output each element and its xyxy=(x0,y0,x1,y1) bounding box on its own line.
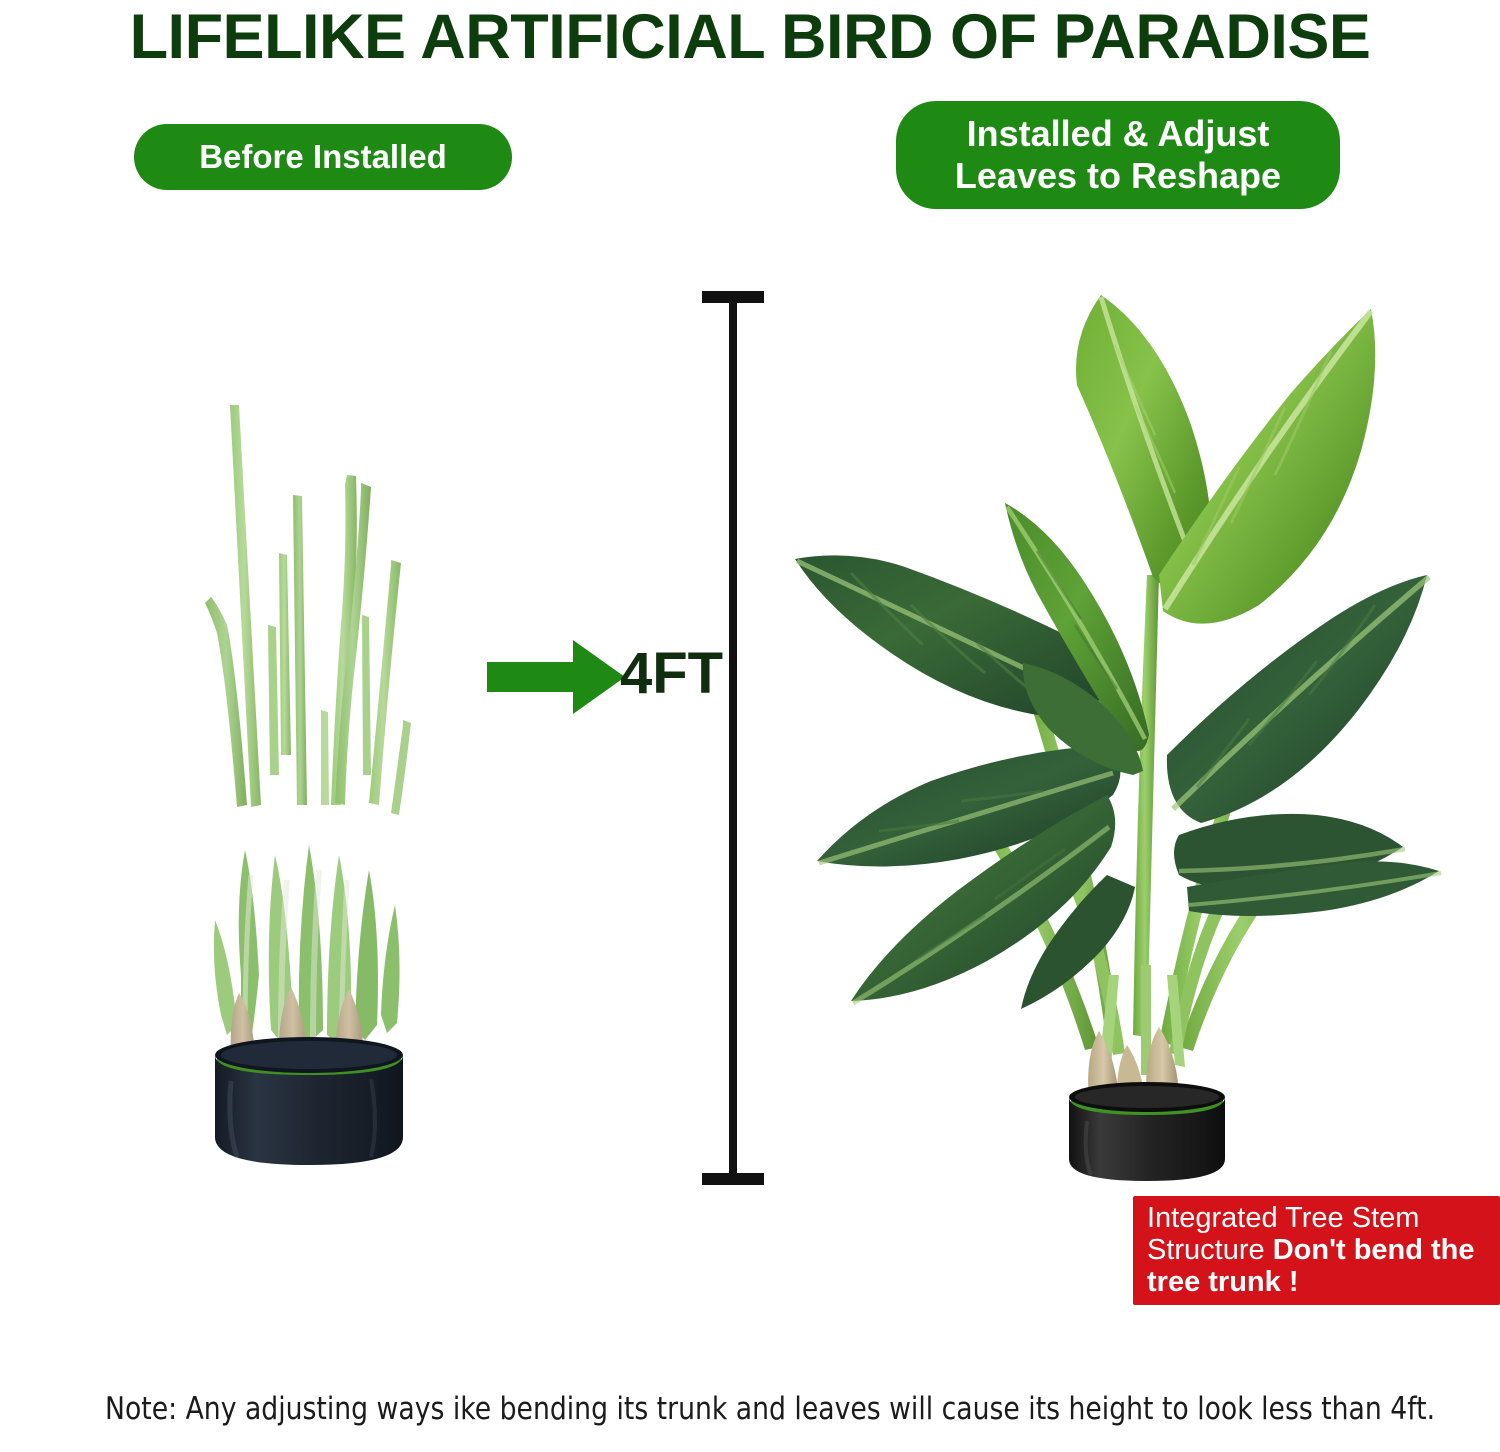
badge-installed-adjust: Installed & Adjust Leaves to Reshape xyxy=(896,101,1340,209)
product-image-before-installed xyxy=(175,375,445,1175)
badge-before-label: Before Installed xyxy=(199,139,447,175)
product-image-installed xyxy=(755,275,1465,1185)
footer-note: Note: Any adjusting ways ike bending its… xyxy=(105,1390,1395,1428)
page-title: LIFELIKE ARTIFICIAL BIRD OF PARADISE xyxy=(0,2,1500,72)
plant-pot xyxy=(1069,1082,1225,1181)
right-arrow-icon xyxy=(487,638,627,716)
badge-after-label-line1: Installed & Adjust xyxy=(967,113,1270,155)
badge-before-installed: Before Installed xyxy=(134,124,512,190)
measurement-line xyxy=(729,293,737,1185)
plant-stems-rolled xyxy=(205,405,411,815)
warning-label: Integrated Tree Stem Structure Don't ben… xyxy=(1133,1196,1500,1305)
badge-after-label-line2: Leaves to Reshape xyxy=(955,155,1281,197)
height-label: 4FT xyxy=(620,639,723,709)
plant-pot xyxy=(215,1037,403,1165)
